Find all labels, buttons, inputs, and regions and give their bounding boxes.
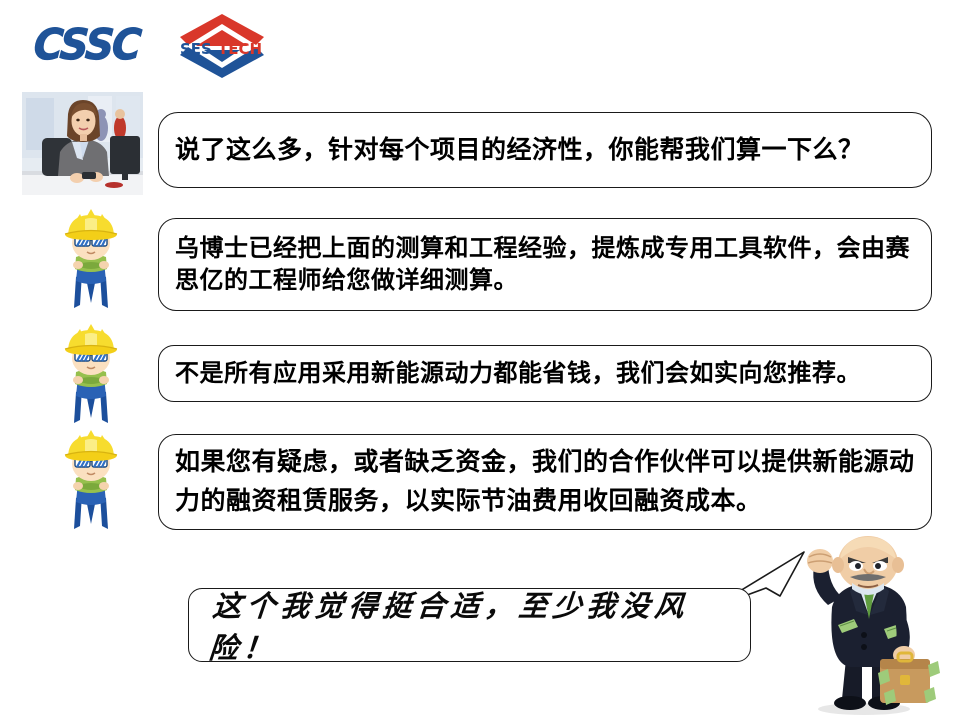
- cssc-logo-text: CSSC: [33, 24, 141, 66]
- engineer-mascot-3: [54, 428, 128, 532]
- engineer-mascot-2: [54, 322, 128, 426]
- speech-callout-body: 这个我觉得挺合适，至少我没风险！: [188, 588, 751, 662]
- speech-bubble-2-text: 乌博士已经把上面的测算和工程经验，提炼成专用工具软件，会由赛思亿的工程师给您做详…: [175, 233, 917, 296]
- speech-bubble-4: 如果您有疑虑，或者缺乏资金，我们的合作伙伴可以提供新能源动力的融资租赁服务，以实…: [158, 434, 932, 530]
- speech-callout-text: 这个我觉得挺合适，至少我没风险！: [207, 583, 753, 667]
- sestech-logo: SES TECH: [172, 10, 272, 82]
- businessman-illustration: [792, 533, 944, 717]
- speech-bubble-2: 乌博士已经把上面的测算和工程经验，提炼成专用工具软件，会由赛思亿的工程师给您做详…: [158, 218, 932, 311]
- speech-bubble-3: 不是所有应用采用新能源动力都能省钱，我们会如实向您推荐。: [158, 345, 932, 402]
- sestech-logo-text-ses: SES: [180, 40, 212, 58]
- speech-callout-businessman: 这个我觉得挺合适，至少我没风险！: [188, 588, 751, 662]
- sestech-logo-text-tech: TECH: [218, 40, 262, 58]
- engineer-mascot-1: [54, 207, 128, 311]
- speech-bubble-1-text: 说了这么多，针对每个项目的经济性，你能帮我们算一下么？: [175, 136, 864, 165]
- speech-bubble-3-text: 不是所有应用采用新能源动力都能省钱，我们会如实向您推荐。: [175, 360, 861, 388]
- speech-bubble-1: 说了这么多，针对每个项目的经济性，你能帮我们算一下么？: [158, 112, 932, 188]
- speech-bubble-4-text: 如果您有疑虑，或者缺乏资金，我们的合作伙伴可以提供新能源动力的融资租赁服务，以实…: [175, 443, 917, 521]
- businesswoman-photo: [22, 92, 143, 195]
- slide-canvas: CSSC SES TECH: [0, 0, 960, 720]
- cssc-logo: CSSC: [34, 22, 156, 68]
